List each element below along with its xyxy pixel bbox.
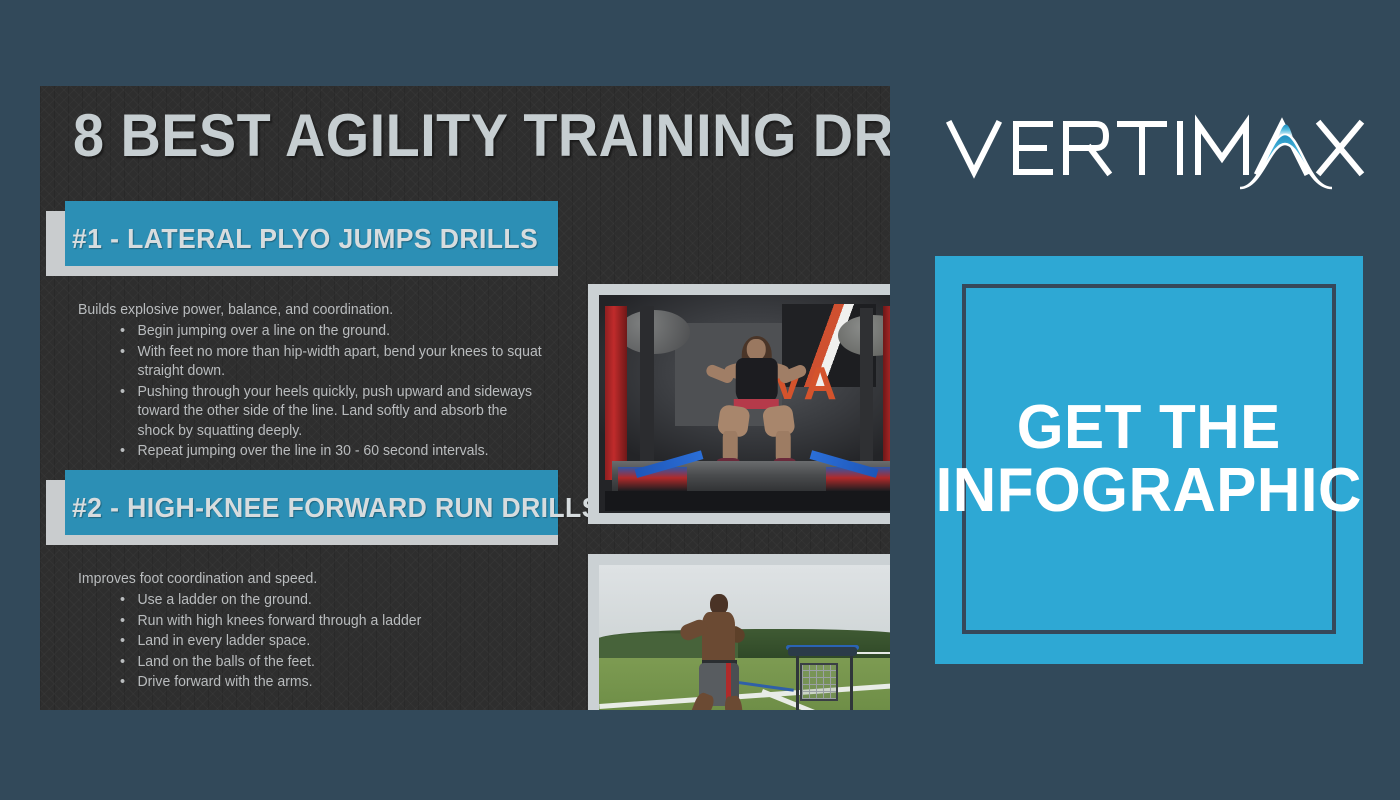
medicine-ball-left [618,310,690,354]
rack-upright-right [860,308,873,474]
runner-figure [684,594,753,710]
cart-mesh-panel [800,663,837,700]
list-item: With feet no more than hip-width apart, … [120,343,545,382]
list-item: Pushing through your heels quickly, push… [120,383,545,441]
drill-body-1: Builds explosive power, balance, and coo… [78,301,558,462]
infographic-panel: 8 BEST AGILITY TRAINING DRILLS #1 - LATE… [40,86,890,710]
squat-rack-right [883,306,890,480]
drill-intro-1: Builds explosive power, balance, and coo… [78,301,544,320]
list-item: Drive forward with the arms. [120,673,545,692]
cta-inner-border: GET THE INFOGRAPHIC [962,284,1336,634]
cart-leg-left [796,656,799,710]
drill-heading-bar-1: #1 - LATERAL PLYO JUMPS DRILLS [46,201,558,276]
athlete-torso [736,358,778,404]
drill-steps-1: Begin jumping over a line on the ground.… [120,322,558,461]
list-item: Land on the balls of the feet. [120,653,545,672]
drill-intro-2: Improves foot coordination and speed. [78,570,544,589]
drill-heading-bar-2: #2 - HIGH-KNEE FORWARD RUN DRILLS [46,470,558,545]
cart-leg-right [850,656,853,710]
list-item: Use a ladder on the ground. [120,591,545,610]
drill-heading-label-1: #1 - LATERAL PLYO JUMPS DRILLS [72,223,538,255]
page-title: 8 BEST AGILITY TRAINING DRILLS [73,106,890,166]
drill-heading-label-2: #2 - HIGH-KNEE FORWARD RUN DRILLS [72,492,600,524]
list-item: Repeat jumping over the line in 30 - 60 … [120,442,545,461]
vertimax-raptor-cart [788,647,857,710]
list-item: Land in every ladder space. [120,632,545,651]
drill-section-1: #1 - LATERAL PLYO JUMPS DRILLS Builds ex… [40,201,890,276]
list-item: Begin jumping over a line on the ground. [120,322,545,341]
list-item: Run with high knees forward through a la… [120,612,545,631]
drill-body-2: Improves foot coordination and speed. Us… [78,570,558,694]
field-run-photo [599,565,890,710]
drill-photo-2 [588,554,890,710]
drill-steps-2: Use a ladder on the ground. Run with hig… [120,591,558,692]
runner-thigh-back [723,695,744,710]
cta-label: GET THE INFOGRAPHIC [936,396,1362,522]
cta-line-1: GET THE [1017,393,1281,462]
cta-line-2: INFOGRAPHIC [936,456,1362,525]
get-infographic-cta[interactable]: GET THE INFOGRAPHIC [935,256,1363,664]
drill-photo-1: VA [588,284,890,524]
athlete-figure [709,339,804,474]
rack-upright-left [640,306,654,476]
bell-curve-icon [1240,125,1332,189]
platform-base [605,491,890,511]
squat-rack-left [605,306,627,480]
vertimax-logo[interactable] [940,104,1370,196]
cart-top-housing [788,647,857,656]
gym-squat-photo: VA [599,295,890,513]
